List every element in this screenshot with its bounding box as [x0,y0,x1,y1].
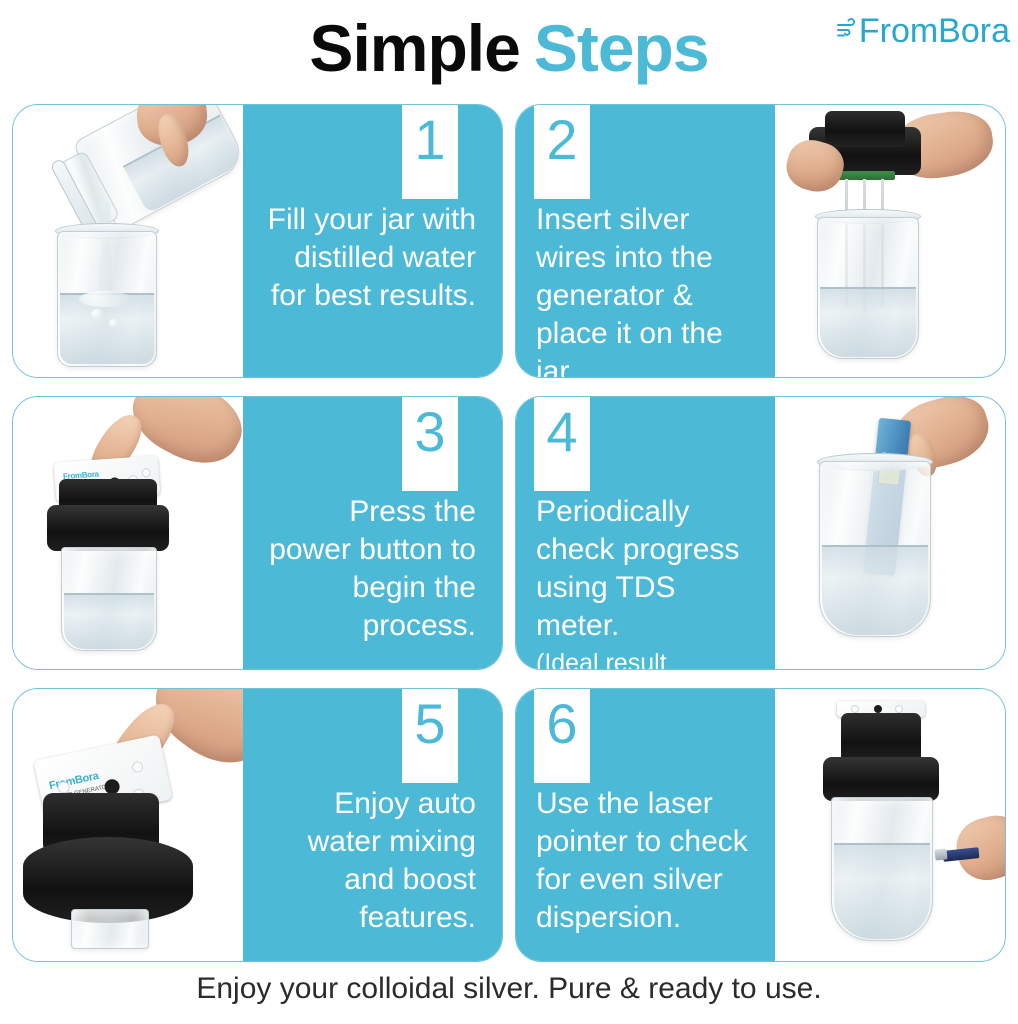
infographic-page: SimpleSteps FromBora [0,0,1018,1024]
step-1-image [13,105,243,377]
step-panel-6[interactable]: 6 Use the laser pointer to check for eve… [515,688,1006,962]
step-5-text-pane: 5 Enjoy auto water mixing and boost feat… [243,689,502,961]
step-3-number: 3 [414,403,445,461]
step-6-number: 6 [546,695,577,753]
brand-logo: FromBora [835,14,1010,48]
title-word-simple: Simple [309,11,519,85]
step-5-description: Enjoy auto water mixing and boost featur… [265,785,476,937]
step-6-text-pane: 6 Use the laser pointer to check for eve… [516,689,775,961]
step-4-number: 4 [546,403,577,461]
step-1-number: 1 [414,111,445,169]
step-panel-4[interactable]: TDS 4 Periodically check progress using … [515,396,1006,670]
step-3-description-block: Press the power button to begin the proc… [243,397,502,669]
title-word-steps: Steps [534,11,709,85]
step-1-text-pane: 1 Fill your jar with distilled water for… [243,105,502,377]
steps-grid: 1 Fill your jar with distilled water for… [12,104,1006,962]
step-1-description: Fill your jar with distilled water for b… [265,201,476,315]
step-4-image: TDS [775,397,1005,669]
step-panel-2[interactable]: 2 Insert silver wires into the generator… [515,104,1006,378]
step-1-number-badge: 1 [402,105,458,199]
step-3-image: FromBora SILVER GENERATOR [13,397,243,669]
step-6-image [775,689,1005,961]
step-2-number: 2 [546,111,577,169]
step-2-text-pane: 2 Insert silver wires into the generator… [516,105,775,377]
step-2-description: Insert silver wires into the generator &… [536,201,753,377]
step-4-description: Periodically check progress using TDS me… [536,493,753,645]
step-5-image: FromBora SILVER GENERATOR [13,689,243,961]
step-panel-5[interactable]: FromBora SILVER GENERATOR 5 [12,688,503,962]
step-5-description-block: Enjoy auto water mixing and boost featur… [243,689,502,961]
step-2-number-badge: 2 [534,105,590,199]
step-1-description-block: Fill your jar with distilled water for b… [243,105,502,377]
step-5-number: 5 [414,695,445,753]
step-2-image [775,105,1005,377]
step-panel-3[interactable]: FromBora SILVER GENERATOR 3 [12,396,503,670]
step-panel-1[interactable]: 1 Fill your jar with distilled water for… [12,104,503,378]
wind-swirl-icon [835,16,857,46]
step-4-number-badge: 4 [534,397,590,491]
step-3-description: Press the power button to begin the proc… [265,493,476,645]
logo-wordmark: FromBora [859,14,1010,48]
step-6-description: Use the laser pointer to check for even … [536,785,753,937]
step-3-number-badge: 3 [402,397,458,491]
step-3-text-pane: 3 Press the power button to begin the pr… [243,397,502,669]
step-6-number-badge: 6 [534,689,590,783]
step-4-text-pane: 4 Periodically check progress using TDS … [516,397,775,669]
step-5-number-badge: 5 [402,689,458,783]
footer-tagline: Enjoy your colloidal silver. Pure & read… [0,968,1018,1010]
header: SimpleSteps FromBora [0,0,1018,100]
step-4-subnote: (Ideal result 10PPM) [536,647,753,669]
